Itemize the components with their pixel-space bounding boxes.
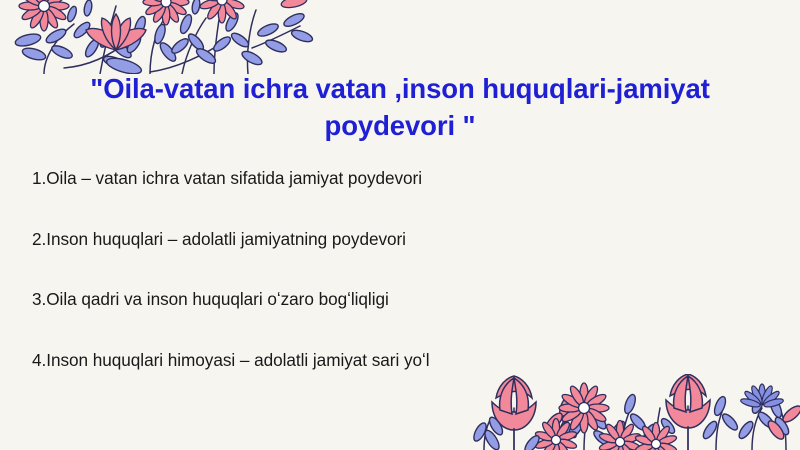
stem [780, 408, 786, 450]
stem [247, 10, 256, 74]
daisy-flower [534, 419, 577, 450]
daisy-flower [559, 383, 609, 433]
leaf [642, 417, 677, 442]
slide-title: "Oila-vatan ichra vatan ,inson huquqlari… [60, 70, 740, 145]
cornflower-flower [740, 384, 784, 409]
leaf [768, 397, 791, 437]
stem [150, 38, 230, 72]
bud-flower [280, 0, 308, 10]
stem [214, 2, 222, 74]
leaf [191, 0, 201, 15]
slide-body-list: 1.Oila – vatan ichra vatan sifatida jami… [32, 168, 752, 371]
stem [484, 420, 490, 450]
leaf [765, 418, 786, 441]
floral-ornament-top-left [0, 0, 320, 74]
leaf [609, 393, 648, 441]
stem [182, 18, 206, 74]
tulip-flower [492, 376, 536, 450]
list-item: 4.Inson huquqlari himoyasi – adolatli ja… [32, 350, 752, 371]
stem [622, 406, 632, 450]
stem [64, 42, 126, 68]
presentation-slide: "Oila-vatan ichra vatan ,inson huquqlari… [0, 0, 800, 450]
stem [584, 408, 588, 450]
leaf [522, 433, 541, 450]
leaf [737, 393, 776, 441]
stem [252, 26, 300, 48]
stem [752, 408, 762, 450]
daisy-flower [634, 423, 677, 450]
daisy-flower [199, 0, 245, 23]
list-item: 2.Inson huquqlari – adolatli jamiyatning… [32, 229, 752, 250]
lotus-flower [86, 14, 146, 50]
leaf [546, 420, 579, 445]
leaf [125, 15, 179, 63]
list-item: 1.Oila – vatan ichra vatan sifatida jami… [32, 168, 752, 189]
stem [716, 412, 722, 450]
leaf [482, 428, 501, 450]
stem [556, 418, 566, 450]
tulip-flower [666, 374, 710, 450]
leaf [780, 403, 800, 424]
daisy-flower [598, 421, 641, 450]
list-item: 3.Oila qadri va inson huquqlari oʻzaro b… [32, 289, 752, 310]
leaf [170, 13, 218, 66]
floral-ornament-bottom-right [470, 374, 800, 450]
leaf [83, 0, 93, 17]
leaf [566, 396, 612, 448]
stem [656, 408, 660, 450]
leaf [66, 5, 78, 22]
stem [44, 24, 74, 74]
leaf [256, 11, 314, 54]
leaf [83, 27, 133, 70]
stem [100, 6, 116, 74]
leaf [701, 395, 740, 441]
daisy-flower [19, 0, 69, 31]
leaf [557, 394, 575, 418]
leaf [471, 415, 505, 443]
leaf [14, 20, 92, 62]
leaf [211, 11, 263, 67]
stem [150, 16, 166, 74]
leaf [543, 411, 565, 434]
daisy-flower [143, 0, 189, 25]
